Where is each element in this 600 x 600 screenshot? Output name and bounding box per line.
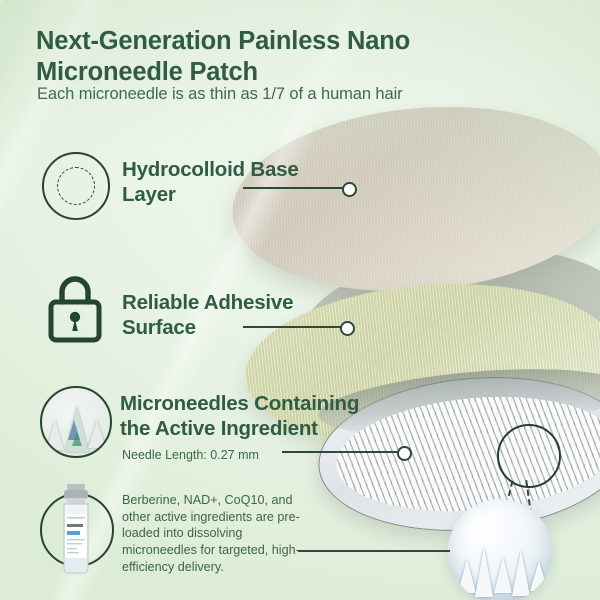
connector-line-vial — [298, 550, 450, 552]
magnified-cone — [494, 557, 512, 593]
feature-title-microneedles: Microneedles Containing the Active Ingre… — [120, 392, 380, 441]
padlock-icon — [44, 272, 106, 349]
connector-line-hydrocolloid — [243, 187, 345, 189]
magnifier-ring-icon — [497, 424, 561, 488]
magnifier-leader-line-right — [525, 480, 534, 534]
magnified-cone — [530, 561, 548, 591]
vial-illustration — [59, 484, 93, 581]
feature-title-adhesive: Reliable Adhesive Surface — [122, 291, 322, 340]
magnifier-leader-line-left — [498, 481, 513, 534]
dashed-circle-icon-outer — [42, 152, 110, 220]
connector-line-adhesive — [243, 326, 343, 328]
active-ingredients-paragraph: Berberine, NAD+, CoQ10, and other active… — [122, 492, 307, 576]
connector-dot-adhesive — [340, 321, 355, 336]
page-title: Next-Generation Painless Nano Microneedl… — [36, 26, 456, 88]
dashed-circle-icon — [42, 152, 110, 220]
infographic-canvas: Next-Generation Painless Nano Microneedl… — [0, 0, 600, 600]
magnified-cone — [475, 547, 493, 597]
feature-title-hydrocolloid: Hydrocolloid Base Layer — [122, 158, 302, 207]
connector-line-microneedles — [282, 451, 400, 453]
magnified-cone — [458, 559, 476, 593]
needle-length-label: Needle Length: 0.27 mm — [122, 448, 259, 462]
microneedle-photo-icon — [40, 386, 112, 458]
connector-dot-microneedles — [397, 446, 412, 461]
dashed-circle-icon-inner — [57, 167, 95, 205]
microneedle-photo-icon-frame — [40, 386, 112, 458]
connector-dot-hydrocolloid — [342, 182, 357, 197]
page-subtitle: Each microneedle is as thin as 1/7 of a … — [37, 85, 467, 104]
magnified-microneedles-bubble — [448, 499, 552, 600]
vial-photo-icon — [40, 493, 114, 567]
patch-midlayer-shadow — [293, 233, 600, 417]
magnified-cone — [512, 550, 530, 596]
